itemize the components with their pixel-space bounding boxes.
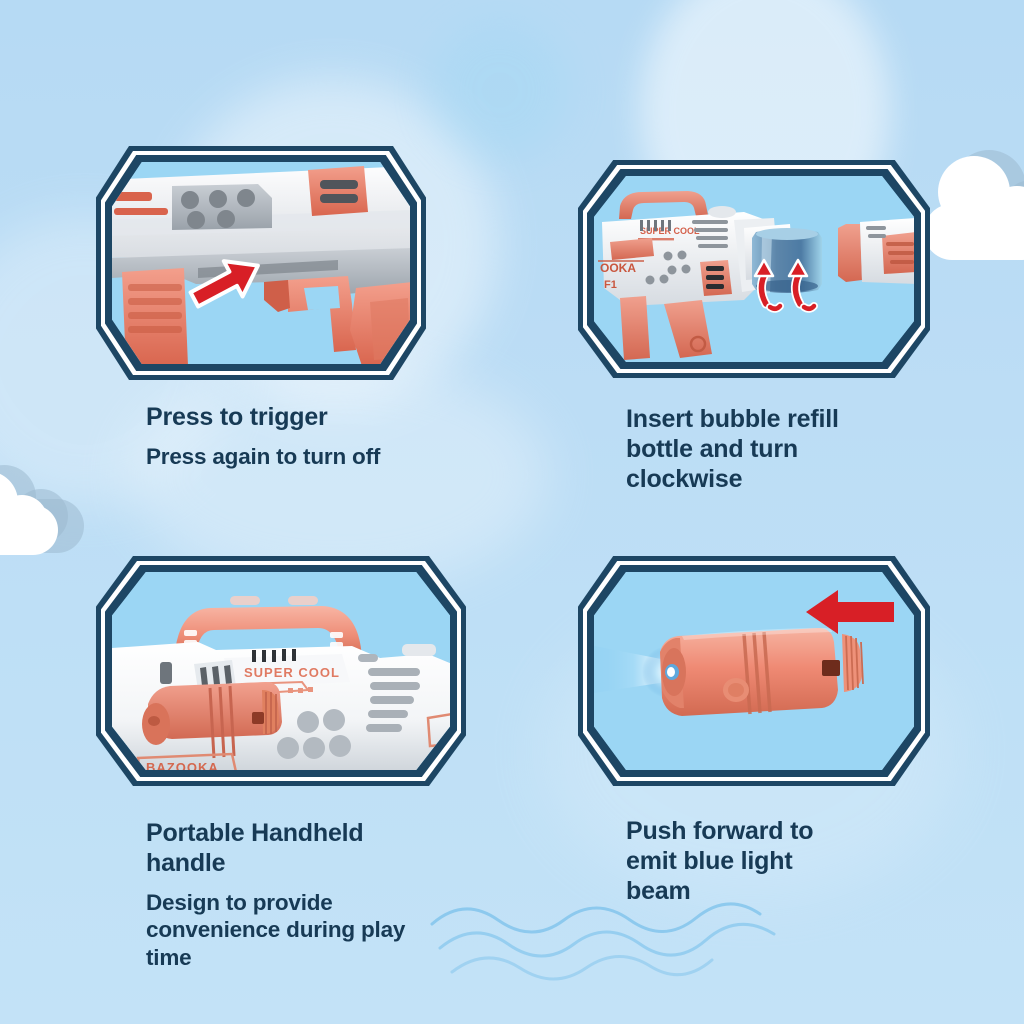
- panel-handle[interactable]: SUPER COOL: [96, 556, 466, 786]
- svg-text:F1: F1: [604, 279, 617, 291]
- photo-trigger-closeup: [112, 162, 410, 364]
- caption-handle: Portable Handheld handle Design to provi…: [146, 818, 506, 971]
- caption-refill: Insert bubble refill bottle and turn clo…: [626, 404, 936, 494]
- cloud-left-icon: [0, 455, 152, 555]
- brand-bazooka: BAZOOKA: [146, 760, 219, 770]
- caption-title: Insert bubble refill bottle and turn clo…: [626, 404, 936, 494]
- cloud-right-icon: [930, 150, 1024, 290]
- caption-title: Portable Handheld handle: [146, 818, 506, 878]
- caption-lightbeam: Push forward to emit blue light beam: [626, 816, 936, 906]
- caption-title: Push forward to emit blue light beam: [626, 816, 936, 906]
- photo-refill-bottle: SUPER COOL OOKA F1: [594, 176, 914, 362]
- cloud-haze-blob: [430, 20, 570, 160]
- caption-subtitle: Press again to turn off: [146, 443, 476, 470]
- caption-title: Press to trigger: [146, 402, 476, 432]
- caption-subtitle: Design to provide convenience during pla…: [146, 889, 506, 971]
- photo-light-beam: [594, 572, 914, 770]
- panel-trigger[interactable]: [96, 146, 426, 380]
- panel-refill[interactable]: SUPER COOL OOKA F1: [578, 160, 930, 378]
- caption-trigger: Press to trigger Press again to turn off: [146, 402, 476, 470]
- brand-super-cool: SUPER COOL: [244, 665, 340, 680]
- panel-lightbeam[interactable]: [578, 556, 930, 786]
- photo-portable-handle: SUPER COOL: [112, 572, 450, 770]
- brand-bazooka: OOKA: [600, 261, 636, 275]
